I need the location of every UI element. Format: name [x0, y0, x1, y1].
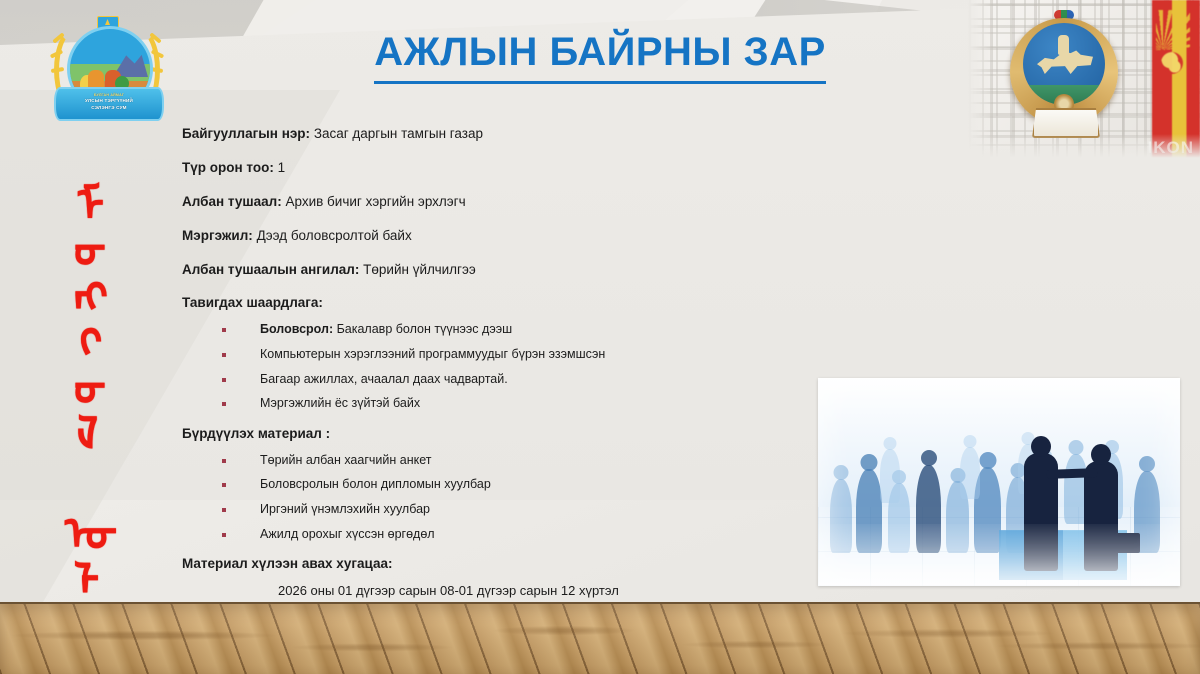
emblem-banner-line2: УЛСЫН ТЭРГҮҮНИЙ: [85, 98, 133, 103]
emblem-blue-field: [1023, 23, 1105, 105]
sum-emblem-icon: БУЛГАН АЙМАГ УЛСЫН ТЭРГҮҮНИЙ СЭЛЭНГЭ СУМ: [48, 10, 166, 125]
emblem-horse-icon: [1037, 49, 1093, 75]
field-position-category: Албан тушаалын ангилал: Төрийн үйлчилгээ: [182, 262, 822, 279]
list-item: Багаар ажиллах, ачаалал даах чадвартай.: [222, 372, 822, 388]
list-item: Компьютерын хэрэглээний программуудыг бү…: [222, 347, 822, 363]
list-item-text: Төрийн албан хаагчийн анкет: [260, 453, 431, 467]
field-vacancy-count: Түр орон тоо: 1: [182, 160, 822, 177]
field-value: Төрийн үйлчилгээ: [363, 262, 476, 277]
announcement-content: Байгууллагын нэр: Засаг даргын тамгын га…: [182, 126, 822, 632]
business-people-photo: [818, 378, 1180, 586]
list-item: Боловсролын болон дипломын хуулбар: [222, 477, 822, 493]
list-item-label: Боловсрол:: [260, 322, 333, 336]
list-item-text: Иргэний үнэмлэхийн хуулбар: [260, 502, 430, 516]
deadline-value: 2026 оны 01 дүгээр сарын 08-01 дүгээр са…: [278, 583, 822, 599]
mongolian-vertical-script: ᠮᠣᠩᠭᠣᠯ ᠤᠯᠤᠰ: [58, 178, 114, 498]
emblem-banner-text: БУЛГАН АЙМАГ УЛСЫН ТЭРГҮҮНИЙ СЭЛЭНГЭ СУМ: [56, 93, 162, 112]
field-value: Засаг даргын тамгын газар: [314, 126, 483, 141]
photo-fade-left: [968, 0, 994, 160]
field-organization: Байгууллагын нэр: Засаг даргын тамгын га…: [182, 126, 822, 143]
photo-fade-bottom: [968, 134, 1200, 160]
field-position: Албан тушаал: Архив бичиг хэргийн эрхлэг…: [182, 194, 822, 211]
wooden-floor: [0, 602, 1200, 674]
list-item-text: Боловсролын болон дипломын хуулбар: [260, 477, 491, 491]
list-item-text: Компьютерын хэрэглээний программуудыг бү…: [260, 347, 605, 361]
field-label: Мэргэжил:: [182, 228, 253, 243]
requirements-list: Боловсрол: Бакалавр болон түүнээс дээш К…: [182, 322, 822, 412]
list-item: Төрийн албан хаагчийн анкет: [222, 453, 822, 469]
field-value: Дээд боловсролтой байх: [257, 228, 412, 243]
job-announcement-slide: АЖЛЫН БАЙРНЫ ЗАР БУЛГАН АЙМАГ УЛСЫН ТЭР: [0, 0, 1200, 674]
photo-vignette: [818, 378, 1180, 586]
requirements-heading: Тавигдах шаардлага:: [182, 295, 822, 312]
field-value: 1: [278, 160, 286, 175]
field-value: Архив бичиг хэргийн эрхлэгч: [285, 194, 465, 209]
list-item: Иргэний үнэмлэхийн хуулбар: [222, 502, 822, 518]
state-emblem-photo: IKON: [968, 0, 1200, 160]
deadline-heading: Материал хүлээн авах хугацаа:: [182, 556, 822, 573]
list-item-text: Ажилд орохыг хүссэн өргөдөл: [260, 527, 435, 541]
list-item-text: Багаар ажиллах, ачаалал даах чадвартай.: [260, 372, 508, 386]
flag-rays: [1156, 10, 1190, 50]
mongolian-state-emblem-icon: [1010, 10, 1118, 138]
field-label: Байгууллагын нэр:: [182, 126, 310, 141]
field-label: Албан тушаал:: [182, 194, 282, 209]
flag-soyombo-icon: [1161, 52, 1183, 74]
emblem-banner-line3: СЭЛЭНГЭ СУМ: [91, 105, 126, 110]
list-item: Боловсрол: Бакалавр болон түүнээс дээш: [222, 322, 822, 338]
list-item: Мэргэжлийн ёс зүйтэй байх: [222, 396, 822, 412]
list-item: Ажилд орохыг хүссэн өргөдөл: [222, 527, 822, 543]
page-title: АЖЛЫН БАЙРНЫ ЗАР: [374, 30, 826, 84]
list-item-text: Мэргэжлийн ёс зүйтэй байх: [260, 396, 420, 410]
field-label: Түр орон тоо:: [182, 160, 274, 175]
field-profession: Мэргэжил: Дээд боловсролтой байх: [182, 228, 822, 245]
documents-list: Төрийн албан хаагчийн анкет Боловсролын …: [182, 453, 822, 543]
documents-heading: Бүрдүүлэх материал :: [182, 426, 822, 443]
field-label: Албан тушаалын ангилал:: [182, 262, 359, 277]
emblem-ribbon-banner: БУЛГАН АЙМАГ УЛСЫН ТЭРГҮҮНИЙ СЭЛЭНГЭ СУМ: [54, 87, 164, 121]
list-item-text: Бакалавр болон түүнээс дээш: [333, 322, 512, 336]
